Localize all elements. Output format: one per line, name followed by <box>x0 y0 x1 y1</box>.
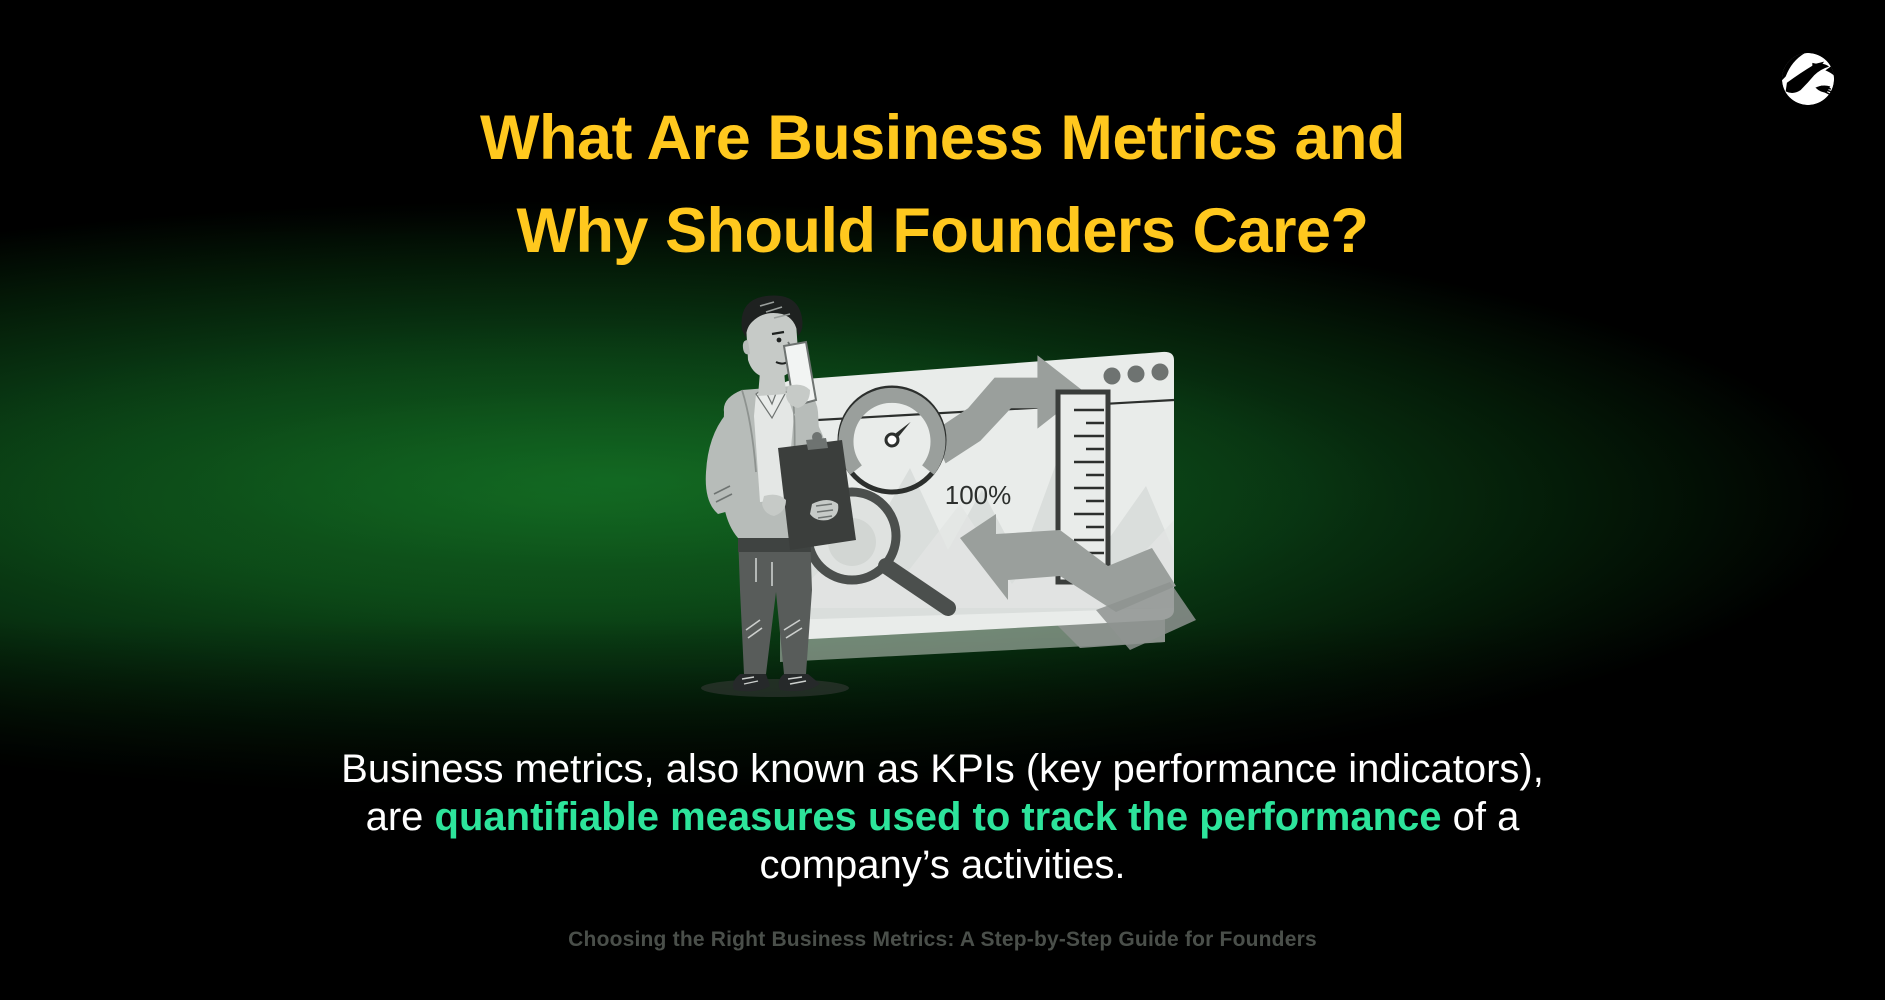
footer-caption: Choosing the Right Business Metrics: A S… <box>0 928 1885 952</box>
body-paragraph: Business metrics, also known as KPIs (ke… <box>313 745 1573 889</box>
footer-caption-text: Choosing the Right Business Metrics: A S… <box>568 928 1317 951</box>
body-copy: Business metrics, also known as KPIs (ke… <box>313 745 1573 889</box>
page-title: What Are Business Metrics and Why Should… <box>0 92 1885 278</box>
gauge-max-label: 100% <box>945 480 1012 510</box>
page-title-line-1: What Are Business Metrics and <box>0 92 1885 185</box>
slide-canvas: What Are Business Metrics and Why Should… <box>0 0 1885 1000</box>
body-highlight: quantifiable measures used to track the … <box>435 795 1442 839</box>
page-title-line-2: Why Should Founders Care? <box>0 185 1885 278</box>
metrics-illustration: 0% 100% <box>660 290 1220 710</box>
